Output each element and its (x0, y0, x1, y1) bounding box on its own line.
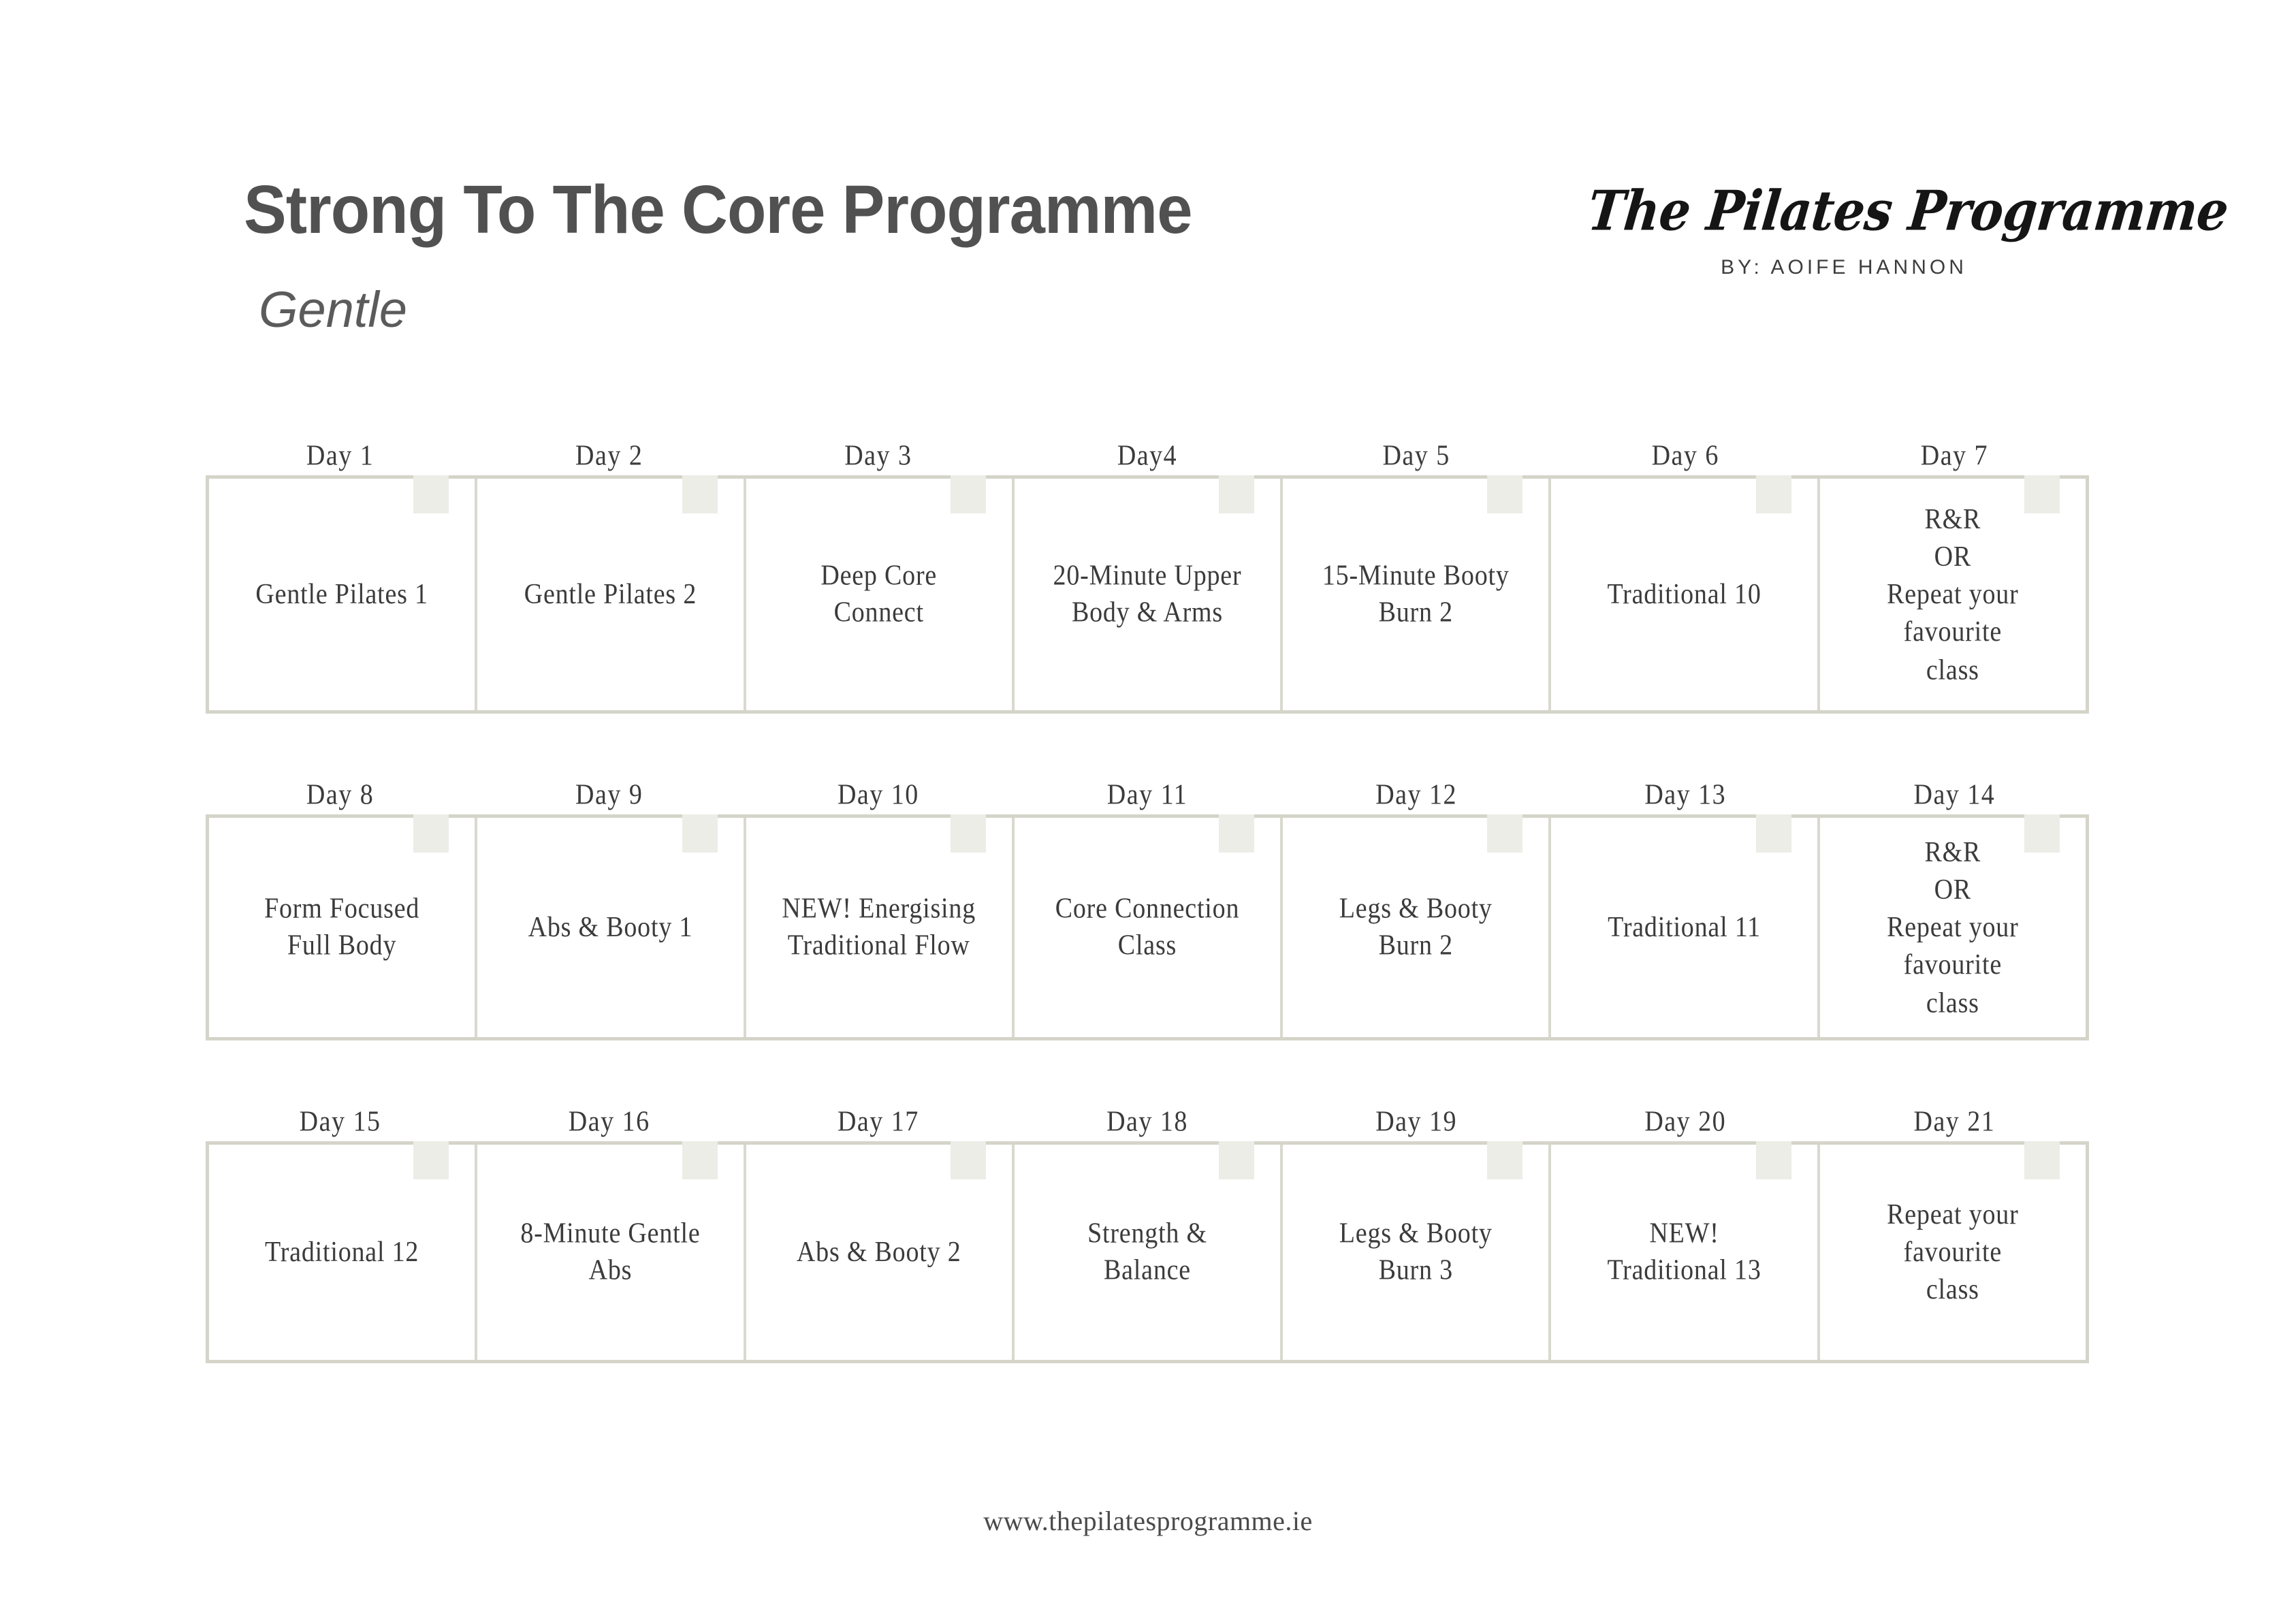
class-name: 15-Minute Booty Burn 2 (1310, 558, 1522, 631)
day-card[interactable]: NEW! Traditional 13 (1551, 1145, 1819, 1360)
day-label-row-2: Day 8 Day 9 Day 10 Day 11 Day 12 Day 13 … (206, 775, 2089, 814)
brand-name: The Pilates Programme (1585, 182, 2109, 240)
day-card-row-3: Traditional 12 8-Minute Gentle Abs Abs &… (206, 1141, 2089, 1363)
day-label: Day 18 (1013, 1100, 1281, 1144)
programme-page: Strong To The Core Programme Gentle The … (0, 0, 2296, 1622)
day-card[interactable]: 15-Minute Booty Burn 2 (1283, 479, 1551, 710)
class-name: NEW! Energising Traditional Flow (769, 891, 988, 964)
day-label: Day 16 (475, 1100, 744, 1144)
class-name: 8-Minute Gentle Abs (508, 1216, 712, 1289)
day-card-rest[interactable]: R&R OR Repeat your favourite class (1820, 818, 2086, 1037)
class-name: Repeat your favourite class (1875, 1196, 2030, 1309)
card-tab-icon (951, 814, 986, 853)
day-card[interactable]: Gentle Pilates 2 (477, 479, 746, 710)
day-label-row-3: Day 15 Day 16 Day 17 Day 18 Day 19 Day 2… (206, 1102, 2089, 1141)
card-tab-icon (951, 475, 986, 513)
day-label: Day 19 (1282, 1100, 1551, 1144)
brand-logo: The Pilates Programme BY: AOIFE HANNON (1585, 188, 2103, 279)
day-card-row-1: Gentle Pilates 1 Gentle Pilates 2 Deep C… (206, 475, 2089, 714)
card-tab-icon (1219, 1141, 1254, 1179)
card-tab-icon (682, 1141, 718, 1179)
footer-website[interactable]: www.thepilatesprogramme.ie (0, 1505, 2296, 1537)
page-title: Strong To The Core Programme (244, 176, 1192, 244)
class-name: NEW! Traditional 13 (1595, 1216, 1773, 1289)
page-header: Strong To The Core Programme Gentle The … (0, 0, 2296, 381)
title-block: Strong To The Core Programme Gentle (244, 176, 1252, 335)
class-name: R&R OR Repeat your favourite class (1875, 833, 2030, 1021)
day-label-row-1: Day 1 Day 2 Day 3 Day4 Day 5 Day 6 Day 7 (206, 436, 2089, 475)
day-card[interactable]: Strength & Balance (1015, 1145, 1283, 1360)
card-tab-icon (1487, 1141, 1522, 1179)
day-label: Day 6 (1551, 434, 1820, 478)
card-tab-icon (1756, 814, 1791, 853)
class-name: Traditional 10 (1595, 576, 1773, 612)
day-label: Day 11 (1013, 773, 1281, 817)
day-card[interactable]: Legs & Booty Burn 2 (1283, 818, 1551, 1037)
day-card[interactable]: NEW! Energising Traditional Flow (746, 818, 1015, 1037)
day-label: Day 5 (1282, 434, 1551, 478)
day-label: Day 2 (475, 434, 744, 478)
day-label: Day 13 (1551, 773, 1820, 817)
day-card[interactable]: Traditional 12 (209, 1145, 477, 1360)
class-name: Legs & Booty Burn 3 (1327, 1216, 1505, 1289)
week-row-1: Day 1 Day 2 Day 3 Day4 Day 5 Day 6 Day 7… (206, 436, 2089, 714)
day-label: Day 9 (475, 773, 744, 817)
card-tab-icon (2024, 1141, 2060, 1179)
card-tab-icon (682, 475, 718, 513)
day-card[interactable]: Deep Core Connect (746, 479, 1015, 710)
day-card[interactable]: Gentle Pilates 1 (209, 479, 477, 710)
card-tab-icon (1487, 475, 1522, 513)
class-name: Traditional 11 (1595, 909, 1773, 945)
day-card[interactable]: 8-Minute Gentle Abs (477, 1145, 746, 1360)
day-card[interactable]: Traditional 11 (1551, 818, 1819, 1037)
card-tab-icon (1219, 475, 1254, 513)
class-name: Traditional 12 (253, 1234, 431, 1270)
class-name: 20-Minute Upper Body & Arms (1041, 558, 1254, 631)
card-tab-icon (1756, 475, 1791, 513)
class-name: Strength & Balance (1075, 1216, 1219, 1289)
class-name: Gentle Pilates 1 (243, 576, 440, 612)
day-card[interactable]: Legs & Booty Burn 3 (1283, 1145, 1551, 1360)
day-label: Day 3 (744, 434, 1013, 478)
day-label: Day 8 (206, 773, 475, 817)
class-name: Form Focused Full Body (252, 891, 432, 964)
day-label: Day 15 (206, 1100, 475, 1144)
card-tab-icon (413, 814, 449, 853)
class-name: Abs & Booty 1 (516, 909, 705, 945)
day-card-row-2: Form Focused Full Body Abs & Booty 1 NEW… (206, 814, 2089, 1040)
programme-level-subtitle: Gentle (259, 285, 1252, 335)
day-label: Day 7 (1820, 434, 2089, 478)
week-row-3: Day 15 Day 16 Day 17 Day 18 Day 19 Day 2… (206, 1102, 2089, 1363)
card-tab-icon (1219, 814, 1254, 853)
day-label: Day 17 (744, 1100, 1013, 1144)
day-card[interactable]: Traditional 10 (1551, 479, 1819, 710)
card-tab-icon (413, 1141, 449, 1179)
day-label: Day 1 (206, 434, 475, 478)
day-card[interactable]: Abs & Booty 1 (477, 818, 746, 1037)
class-name: Gentle Pilates 2 (512, 576, 709, 612)
card-tab-icon (413, 475, 449, 513)
day-card[interactable]: Core Connection Class (1015, 818, 1283, 1037)
day-label: Day 12 (1282, 773, 1551, 817)
class-name: Legs & Booty Burn 2 (1327, 891, 1505, 964)
day-label: Day 14 (1820, 773, 2089, 817)
day-label: Day 10 (744, 773, 1013, 817)
week-row-2: Day 8 Day 9 Day 10 Day 11 Day 12 Day 13 … (206, 775, 2089, 1040)
day-label: Day4 (1013, 434, 1281, 478)
day-card-rest[interactable]: R&R OR Repeat your favourite class (1820, 479, 2086, 710)
brand-byline: BY: AOIFE HANNON (1585, 256, 2103, 279)
class-name: Core Connection Class (1043, 891, 1252, 964)
card-tab-icon (1487, 814, 1522, 853)
day-card[interactable]: Abs & Booty 2 (746, 1145, 1015, 1360)
day-label: Day 20 (1551, 1100, 1820, 1144)
class-name: Abs & Booty 2 (784, 1234, 974, 1270)
day-card[interactable]: 20-Minute Upper Body & Arms (1015, 479, 1283, 710)
card-tab-icon (1756, 1141, 1791, 1179)
class-name: Deep Core Connect (808, 558, 949, 631)
card-tab-icon (951, 1141, 986, 1179)
class-name: R&R OR Repeat your favourite class (1875, 500, 2030, 688)
day-card[interactable]: Form Focused Full Body (209, 818, 477, 1037)
day-card-rest[interactable]: Repeat your favourite class (1820, 1145, 2086, 1360)
card-tab-icon (682, 814, 718, 853)
day-label: Day 21 (1820, 1100, 2089, 1144)
